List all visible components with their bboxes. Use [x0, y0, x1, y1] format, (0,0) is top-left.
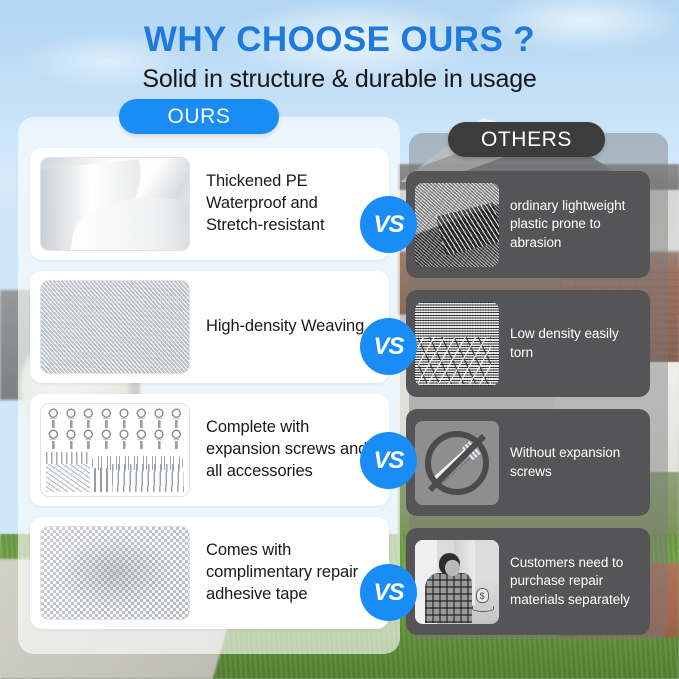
repair-adhesive-tape-image — [40, 526, 190, 620]
torn-mesh-image — [415, 302, 499, 386]
others-column-badge: OTHERS — [448, 122, 605, 157]
page-title: WHY CHOOSE OURS ? — [0, 22, 679, 59]
ours-column-badge: OURS — [119, 99, 279, 134]
infographic-canvas: WHY CHOOSE OURS ? Solid in structure & d… — [0, 0, 679, 679]
ours-row-label: Thickened PE Waterproof and Stretch-resi… — [206, 171, 379, 236]
high-density-weave-image — [40, 280, 190, 374]
others-row-label: Without expansion screws — [510, 444, 641, 480]
rods-group — [112, 464, 184, 492]
others-row-label: Low density easily torn — [510, 325, 641, 361]
ours-feature-list: Thickened PE Waterproof and Stretch-resi… — [30, 148, 389, 640]
ours-row-label: Complete with expansion screws and all a… — [206, 417, 379, 482]
screw-eye-grid — [45, 408, 185, 449]
ours-row: Thickened PE Waterproof and Stretch-resi… — [30, 148, 389, 260]
ours-row-label: High-density Weaving — [206, 316, 364, 338]
others-row: ordinary lightweight plastic prone to ab… — [406, 171, 650, 278]
ours-row-label: Comes with complimentary repair adhesive… — [206, 540, 379, 605]
white-pe-sheet-image — [40, 157, 190, 251]
ours-row: High-density Weaving — [30, 271, 389, 383]
worker-buying-materials-image — [415, 540, 499, 624]
others-row-label: Customers need to purchase repair materi… — [510, 554, 641, 609]
others-feature-list: ordinary lightweight plastic prone to ab… — [406, 171, 650, 647]
frayed-plastic-tarp-image — [415, 183, 499, 267]
money-bag-icon — [472, 588, 494, 613]
ours-row: Comes with complimentary repair adhesive… — [30, 517, 389, 629]
others-row: Customers need to purchase repair materi… — [406, 528, 650, 635]
page-subtitle: Solid in structure & durable in usage — [0, 65, 679, 94]
vs-badge: VS — [360, 318, 417, 375]
hardware-clutter — [46, 464, 90, 492]
header: WHY CHOOSE OURS ? Solid in structure & d… — [0, 0, 679, 94]
vs-badge: VS — [360, 196, 417, 253]
others-row: Low density easily torn — [406, 290, 650, 397]
vs-badge: VS — [360, 432, 417, 489]
screws-accessories-kit-image — [40, 403, 190, 497]
bolts-group — [94, 468, 108, 492]
others-row: Without expansion screws — [406, 409, 650, 516]
others-row-label: ordinary lightweight plastic prone to ab… — [510, 197, 641, 252]
vs-badge: VS — [360, 564, 417, 621]
no-screws-prohibition-image — [415, 421, 499, 505]
ours-row: Complete with expansion screws and all a… — [30, 394, 389, 506]
